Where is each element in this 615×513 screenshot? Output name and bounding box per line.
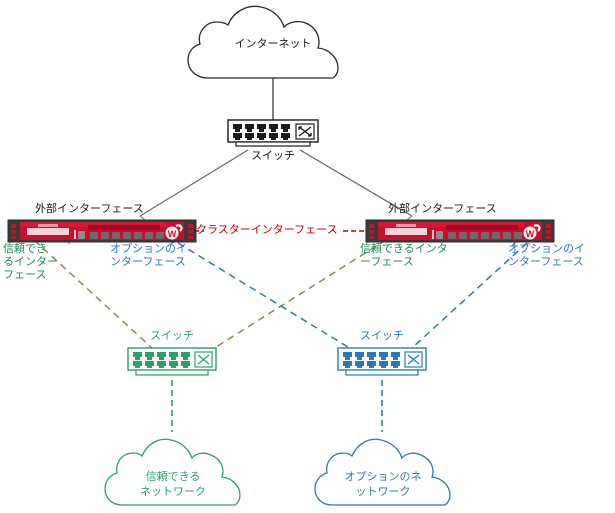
trusted-switch-label: スイッチ [132, 330, 212, 343]
trusted-cloud-label: 信頼できる ネットワーク [103, 470, 243, 500]
line-switch-to-firewall-left [140, 150, 248, 216]
internet-cloud-label: インターネット [203, 38, 343, 51]
firewall-appliance-right-icon: W [366, 220, 554, 242]
optional-switch-label: スイッチ [342, 330, 422, 343]
firewall-left-optional-label: オプションのイ ンターフェース [110, 243, 187, 269]
firewall-appliance-left-icon: W [8, 220, 196, 242]
svg-text:W: W [526, 229, 535, 239]
trusted-switch-icon [128, 348, 216, 375]
cluster-interface-label: クラスターインターフェース [196, 224, 338, 237]
firewall-right-external-label: 外部インターフェース [388, 203, 497, 216]
network-topology-diagram: W [0, 0, 615, 513]
svg-text:W: W [168, 229, 177, 239]
optional-cloud-label: オプションのネ ットワーク [313, 470, 453, 500]
firewall-left-external-label: 外部インターフェース [35, 203, 144, 216]
firewall-right-trusted-label: 信頼できるインタ ーフェース [360, 243, 448, 269]
firewall-right-optional-label: オプションのイ ンターフェース [508, 243, 585, 269]
optional-switch-icon [338, 348, 426, 375]
firewall-left-trusted-label: 信頼でき るインター フェース [3, 243, 58, 282]
top-switch-label: スイッチ [233, 150, 313, 163]
top-switch-icon [228, 120, 318, 146]
